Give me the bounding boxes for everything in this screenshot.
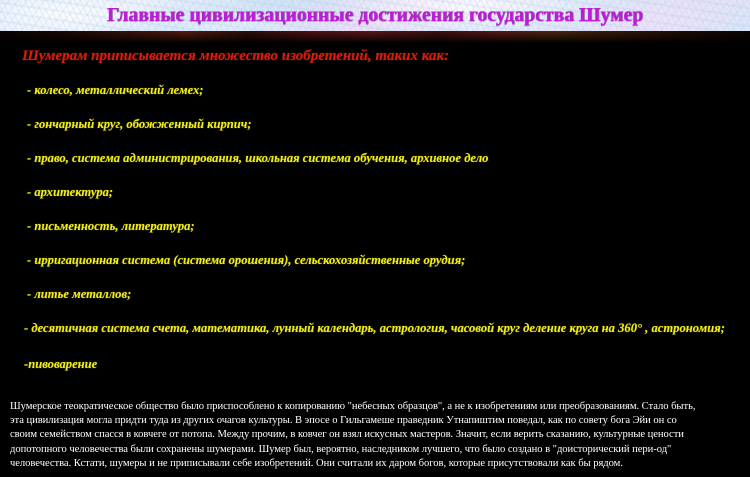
list-item: - архитектура; <box>0 184 750 201</box>
list-item: - гончарный круг, обожженный кирпич; <box>0 116 750 133</box>
page-title: Главные цивилизационные достижения госуд… <box>0 0 750 31</box>
list-item: - десятичная система счета, математика, … <box>0 320 750 337</box>
intro-line: Шумерам приписывается множество изобрете… <box>0 43 750 65</box>
page-header-banner: Главные цивилизационные достижения госуд… <box>0 0 750 31</box>
footer-line: эта цивилизация могла придти туда из дру… <box>10 414 742 428</box>
list-item: - колесо, металлический лемех; <box>0 82 750 99</box>
list-item: - ирригационная система (система орошени… <box>0 252 750 269</box>
list-item: - право, система администрирования, школ… <box>0 150 750 167</box>
footer-line: своим семейством спасся в ковчеге от пот… <box>10 428 742 442</box>
footer-line: человечества. Кстати, шумеры и не припис… <box>10 457 742 471</box>
texture-strip-divider <box>0 31 750 43</box>
list-item: - литье металлов; <box>0 286 750 303</box>
list-item: - письменность, литература; <box>0 218 750 235</box>
list-item: -пивоварение <box>0 356 750 373</box>
footer-line: Шумерское теократическое общество было п… <box>10 400 742 414</box>
footer-paragraph: Шумерское теократическое общество было п… <box>0 400 750 471</box>
main-content: Шумерам приписывается множество изобрете… <box>0 43 750 373</box>
footer-line: допотопного человечества были сохранены … <box>10 443 742 457</box>
